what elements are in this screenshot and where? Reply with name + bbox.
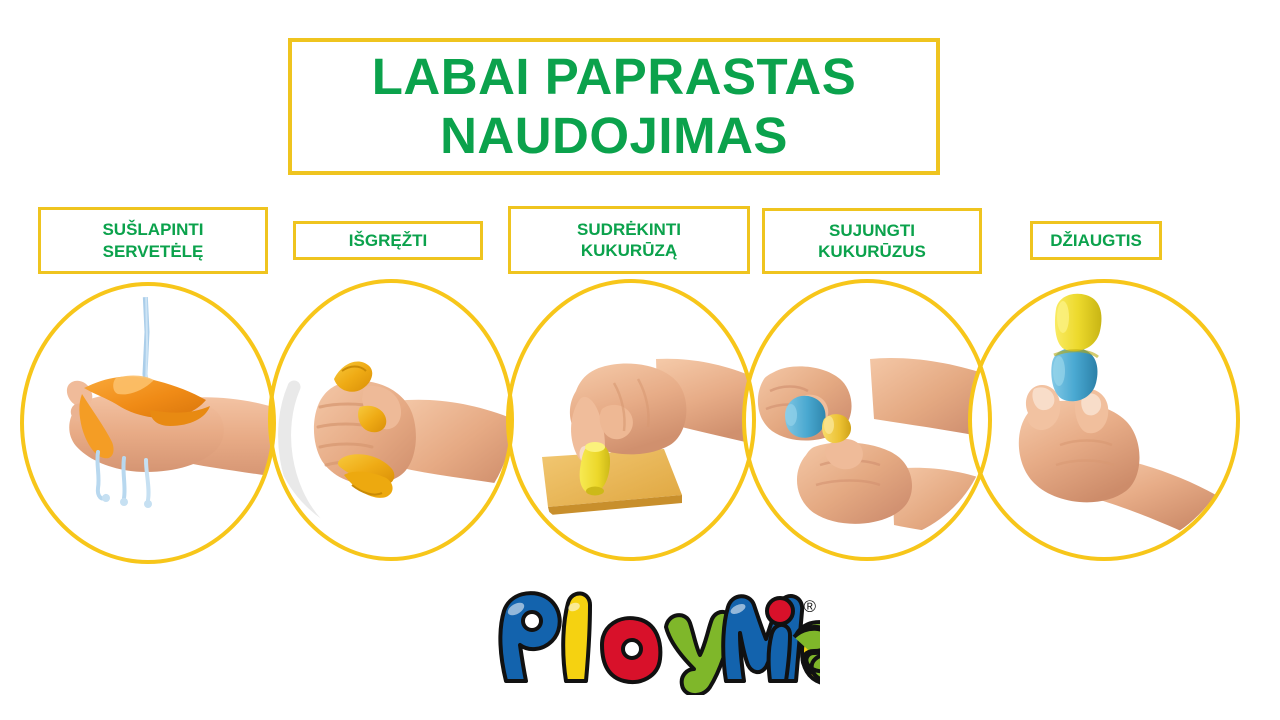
playmais-logo: ® [470, 585, 820, 695]
step-circle-4 [742, 279, 992, 561]
page-title: LABAI PAPRASTAS NAUDOJIMAS [372, 48, 856, 165]
step-circle-3 [506, 279, 756, 561]
registered-trademark-icon: ® [803, 597, 816, 617]
step-label-1-text: SUŠLAPINTI SERVETĖLĘ [102, 219, 203, 262]
playmais-wordmark [470, 585, 820, 695]
step-label-1: SUŠLAPINTI SERVETĖLĘ [38, 207, 268, 274]
step-illustrations-row [0, 265, 1280, 570]
title-banner: LABAI PAPRASTAS NAUDOJIMAS [288, 38, 940, 175]
step-circle-5 [968, 279, 1240, 561]
step-label-5-text: DŽIAUGTIS [1050, 230, 1142, 251]
step-label-4: SUJUNGTI KUKURŪZUS [762, 208, 982, 274]
step-label-3: SUDRĖKINTI KUKURŪZĄ [508, 206, 750, 274]
step-label-3-text: SUDRĖKINTI KUKURŪZĄ [577, 219, 681, 262]
step-label-2-text: IŠGRĘŽTI [349, 230, 427, 251]
step-circle-2 [268, 279, 514, 561]
step-label-5: DŽIAUGTIS [1030, 221, 1162, 260]
step-circle-1 [20, 282, 276, 564]
step-label-4-text: SUJUNGTI KUKURŪZUS [818, 220, 926, 263]
infographic-page: LABAI PAPRASTAS NAUDOJIMAS SUŠLAPINTI SE… [0, 0, 1280, 720]
step-label-2: IŠGRĘŽTI [293, 221, 483, 260]
